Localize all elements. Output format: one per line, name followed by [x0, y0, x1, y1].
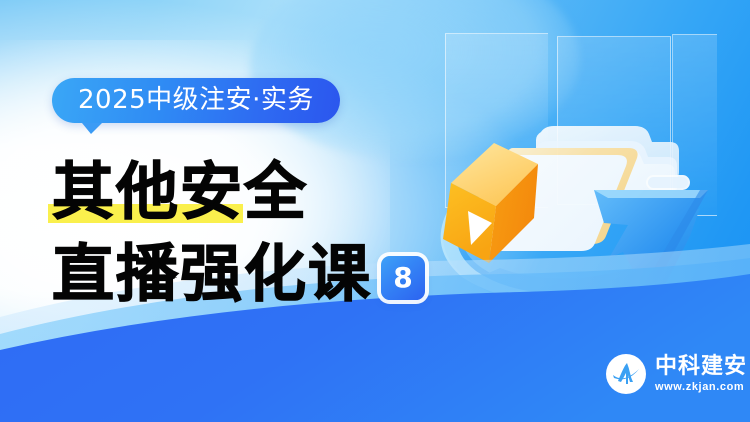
- zkjan-mark-glyph: [609, 357, 643, 391]
- headline-block: 其他安全 直播强化课 8: [52, 157, 482, 309]
- brand-url: www.zkjan.com: [655, 380, 747, 394]
- headline-line-2-wrap: 直播强化课 8: [52, 235, 482, 309]
- course-tag-label: 2025中级注安·实务: [78, 87, 314, 113]
- brand-logo: 中科建安 www.zkjan.com: [606, 354, 747, 394]
- brand-name: 中科建安: [655, 355, 747, 378]
- course-tag: 2025中级注安·实务: [52, 78, 340, 123]
- episode-number: 8: [393, 264, 412, 292]
- course-poster: 2025中级注安·实务 其他安全 直播强化课 8 中科建安: [0, 0, 750, 422]
- headline-line-1: 其他安全: [52, 157, 482, 227]
- course-tag-pill: 2025中级注安·实务: [52, 78, 340, 123]
- episode-number-badge: 8: [381, 256, 425, 300]
- headline-line-2: 直播强化课: [52, 239, 372, 309]
- course-tag-tail: [82, 123, 102, 134]
- brand-logo-text: 中科建安 www.zkjan.com: [655, 355, 747, 394]
- zkjan-logo-icon: [606, 354, 646, 394]
- headline-line-1-wrap: 其他安全: [52, 157, 482, 229]
